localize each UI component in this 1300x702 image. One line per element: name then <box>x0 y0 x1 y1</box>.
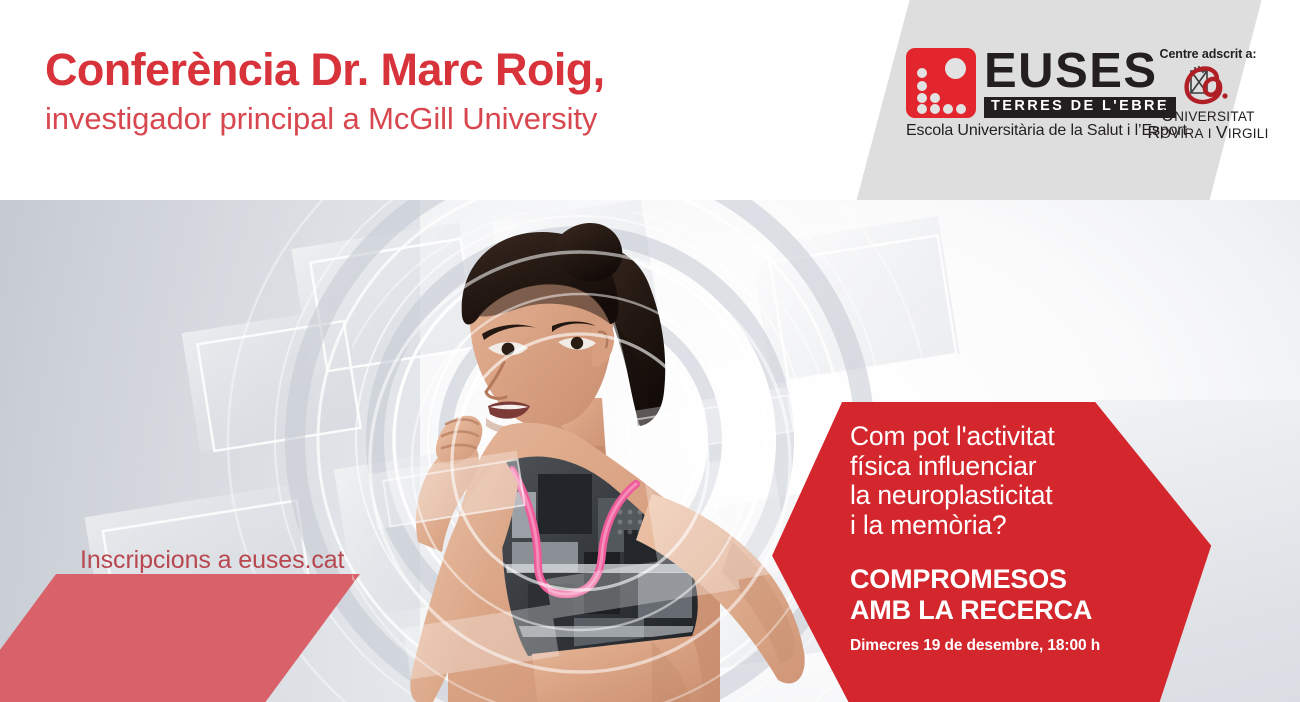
page-title: Conferència Dr. Marc Roig, investigador … <box>45 44 605 138</box>
title-main: Conferència Dr. Marc Roig, <box>45 44 605 96</box>
urv-at-symbol-icon <box>1177 63 1239 107</box>
question-line-4: i la memòria? <box>850 511 1150 541</box>
registration-link[interactable]: Inscripcions a euses.cat <box>80 546 344 575</box>
red-info-panel: Com pot l'activitat física influenciar l… <box>770 400 1300 702</box>
euses-dots-mark-icon <box>906 48 976 118</box>
question-line-1: Com pot l'activitat <box>850 422 1150 452</box>
urv-i: I <box>1204 126 1216 141</box>
title-subtitle: investigador principal a McGill Universi… <box>45 100 605 138</box>
question-line-2: física influenciar <box>850 452 1150 482</box>
urv-v: V <box>1216 122 1228 142</box>
urv-ovira: OVIRA <box>1160 126 1204 141</box>
urv-niversitat: NIVERSITAT <box>1174 109 1255 124</box>
event-datetime: Dimecres 19 de desembre, 18:00 h <box>850 637 1150 655</box>
urv-u: U <box>1161 105 1174 125</box>
hero-photo: Com pot l'activitat física influenciar l… <box>0 200 1300 702</box>
urv-adscrit-label: Centre adscrit a: <box>1133 48 1283 62</box>
urv-logo: Centre adscrit a: UNIVERSITAT <box>1133 48 1283 142</box>
urv-r: R <box>1147 122 1160 142</box>
athlete-figure <box>352 212 822 702</box>
headline-line-2: AMB LA RECERCA <box>850 595 1150 626</box>
headline-line-1: COMPROMESOS <box>850 564 1150 595</box>
question-line-3: la neuroplasticitat <box>850 481 1150 511</box>
header-band: Conferència Dr. Marc Roig, investigador … <box>0 0 1300 200</box>
conference-banner: Com pot l'activitat física influenciar l… <box>0 0 1300 702</box>
urv-name-line-2: ROVIRAIVIRGILI <box>1133 123 1283 141</box>
urv-irgili: IRGILI <box>1228 126 1269 141</box>
red-panel-text: Com pot l'activitat física influenciar l… <box>850 422 1150 655</box>
